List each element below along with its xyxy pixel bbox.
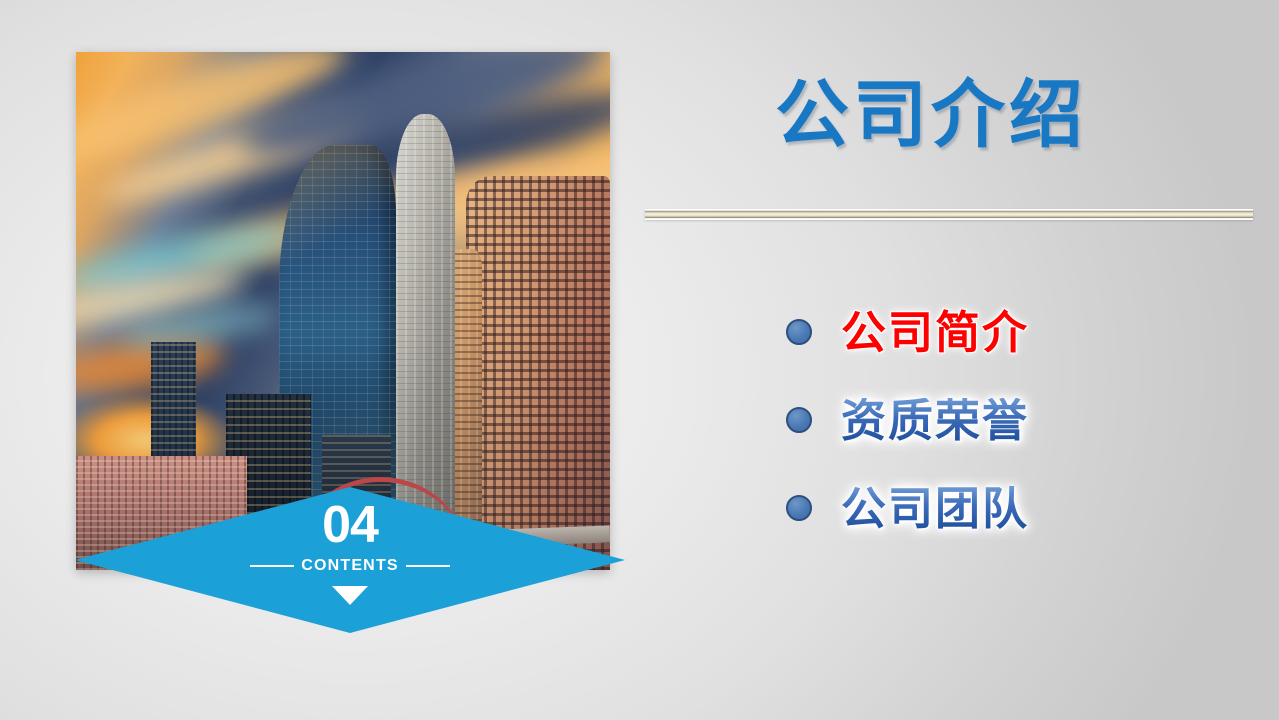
agenda-item-company-profile[interactable]: 公司简介 [786, 288, 1226, 376]
page-title: 公司介绍 [611, 78, 1251, 152]
agenda-item-qualifications[interactable]: 资质荣誉 [786, 376, 1226, 464]
agenda-list: 公司简介 资质荣誉 公司团队 [786, 288, 1226, 552]
bullet-dot-icon [786, 495, 812, 521]
agenda-item-label: 公司简介 [841, 310, 1029, 355]
bullet-dot-icon [786, 407, 812, 433]
bullet-dot-icon [786, 319, 812, 345]
agenda-item-label: 公司团队 [841, 486, 1029, 531]
building-perforated-block [466, 176, 610, 570]
title-divider [645, 209, 1253, 220]
agenda-item-team[interactable]: 公司团队 [786, 464, 1226, 552]
agenda-item-label: 资质荣誉 [841, 398, 1029, 443]
presentation-slide: 04 CONTENTS 公司介绍 公司简介 资质荣誉 公司团队 [0, 0, 1279, 720]
